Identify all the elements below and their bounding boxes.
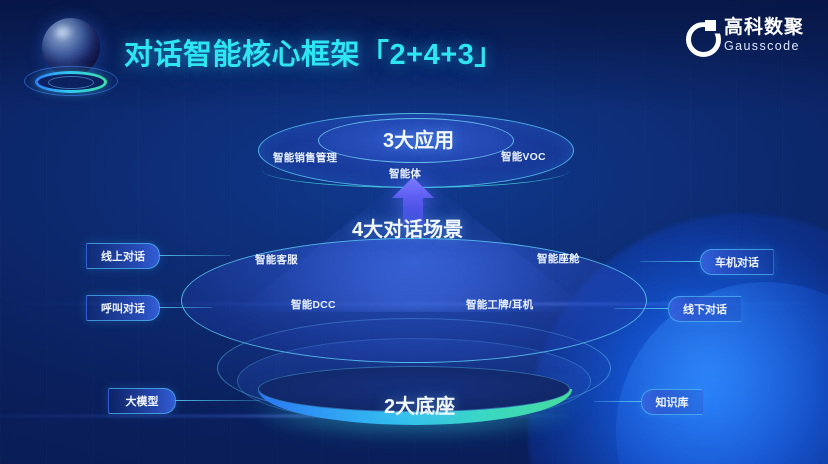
brand-logo: 高科数聚 Gausscode [686, 18, 804, 53]
page-title: 对话智能核心框架「2+4+3」 [124, 31, 504, 73]
tag-in-car-dialog[interactable]: 车机对话 [700, 249, 774, 275]
connector-online-dialog [158, 255, 230, 256]
connector-in-car-dialog [640, 261, 700, 262]
label-smart-agent: 智能体 [389, 166, 421, 181]
applications-title: 3大应用 [383, 124, 454, 153]
slide-canvas: 对话智能核心框架「2+4+3」 高科数聚 Gausscode [0, 0, 828, 464]
tag-call-dialog[interactable]: 呼叫对话 [86, 295, 160, 321]
connector-large-model [174, 400, 260, 401]
brand-name-cn: 高科数聚 [724, 18, 804, 37]
orb-pedestal-icon [22, 16, 120, 110]
label-smart-dcc: 智能DCC [291, 297, 336, 312]
connector-knowledge-base [594, 401, 641, 402]
scenarios-title: 4大对话场景 [352, 213, 463, 242]
tag-online-dialog[interactable]: 线上对话 [86, 243, 160, 269]
label-smart-customer-service: 智能客服 [255, 252, 298, 267]
label-smart-badge-headset: 智能工牌/耳机 [466, 297, 533, 312]
gausscode-mark-icon [686, 20, 716, 50]
label-smart-cockpit: 智能座舱 [537, 251, 580, 266]
label-smart-sales-management: 智能销售管理 [273, 150, 337, 165]
connector-offline-dialog [614, 308, 668, 309]
brand-name-en: Gausscode [724, 40, 804, 53]
label-smart-voc: 智能VOC [501, 149, 546, 164]
tag-offline-dialog[interactable]: 线下对话 [668, 296, 742, 322]
foundation-title: 2大底座 [384, 390, 455, 419]
tag-large-model[interactable]: 大模型 [108, 388, 176, 414]
tag-knowledge-base[interactable]: 知识库 [641, 389, 703, 415]
connector-call-dialog [158, 307, 212, 308]
